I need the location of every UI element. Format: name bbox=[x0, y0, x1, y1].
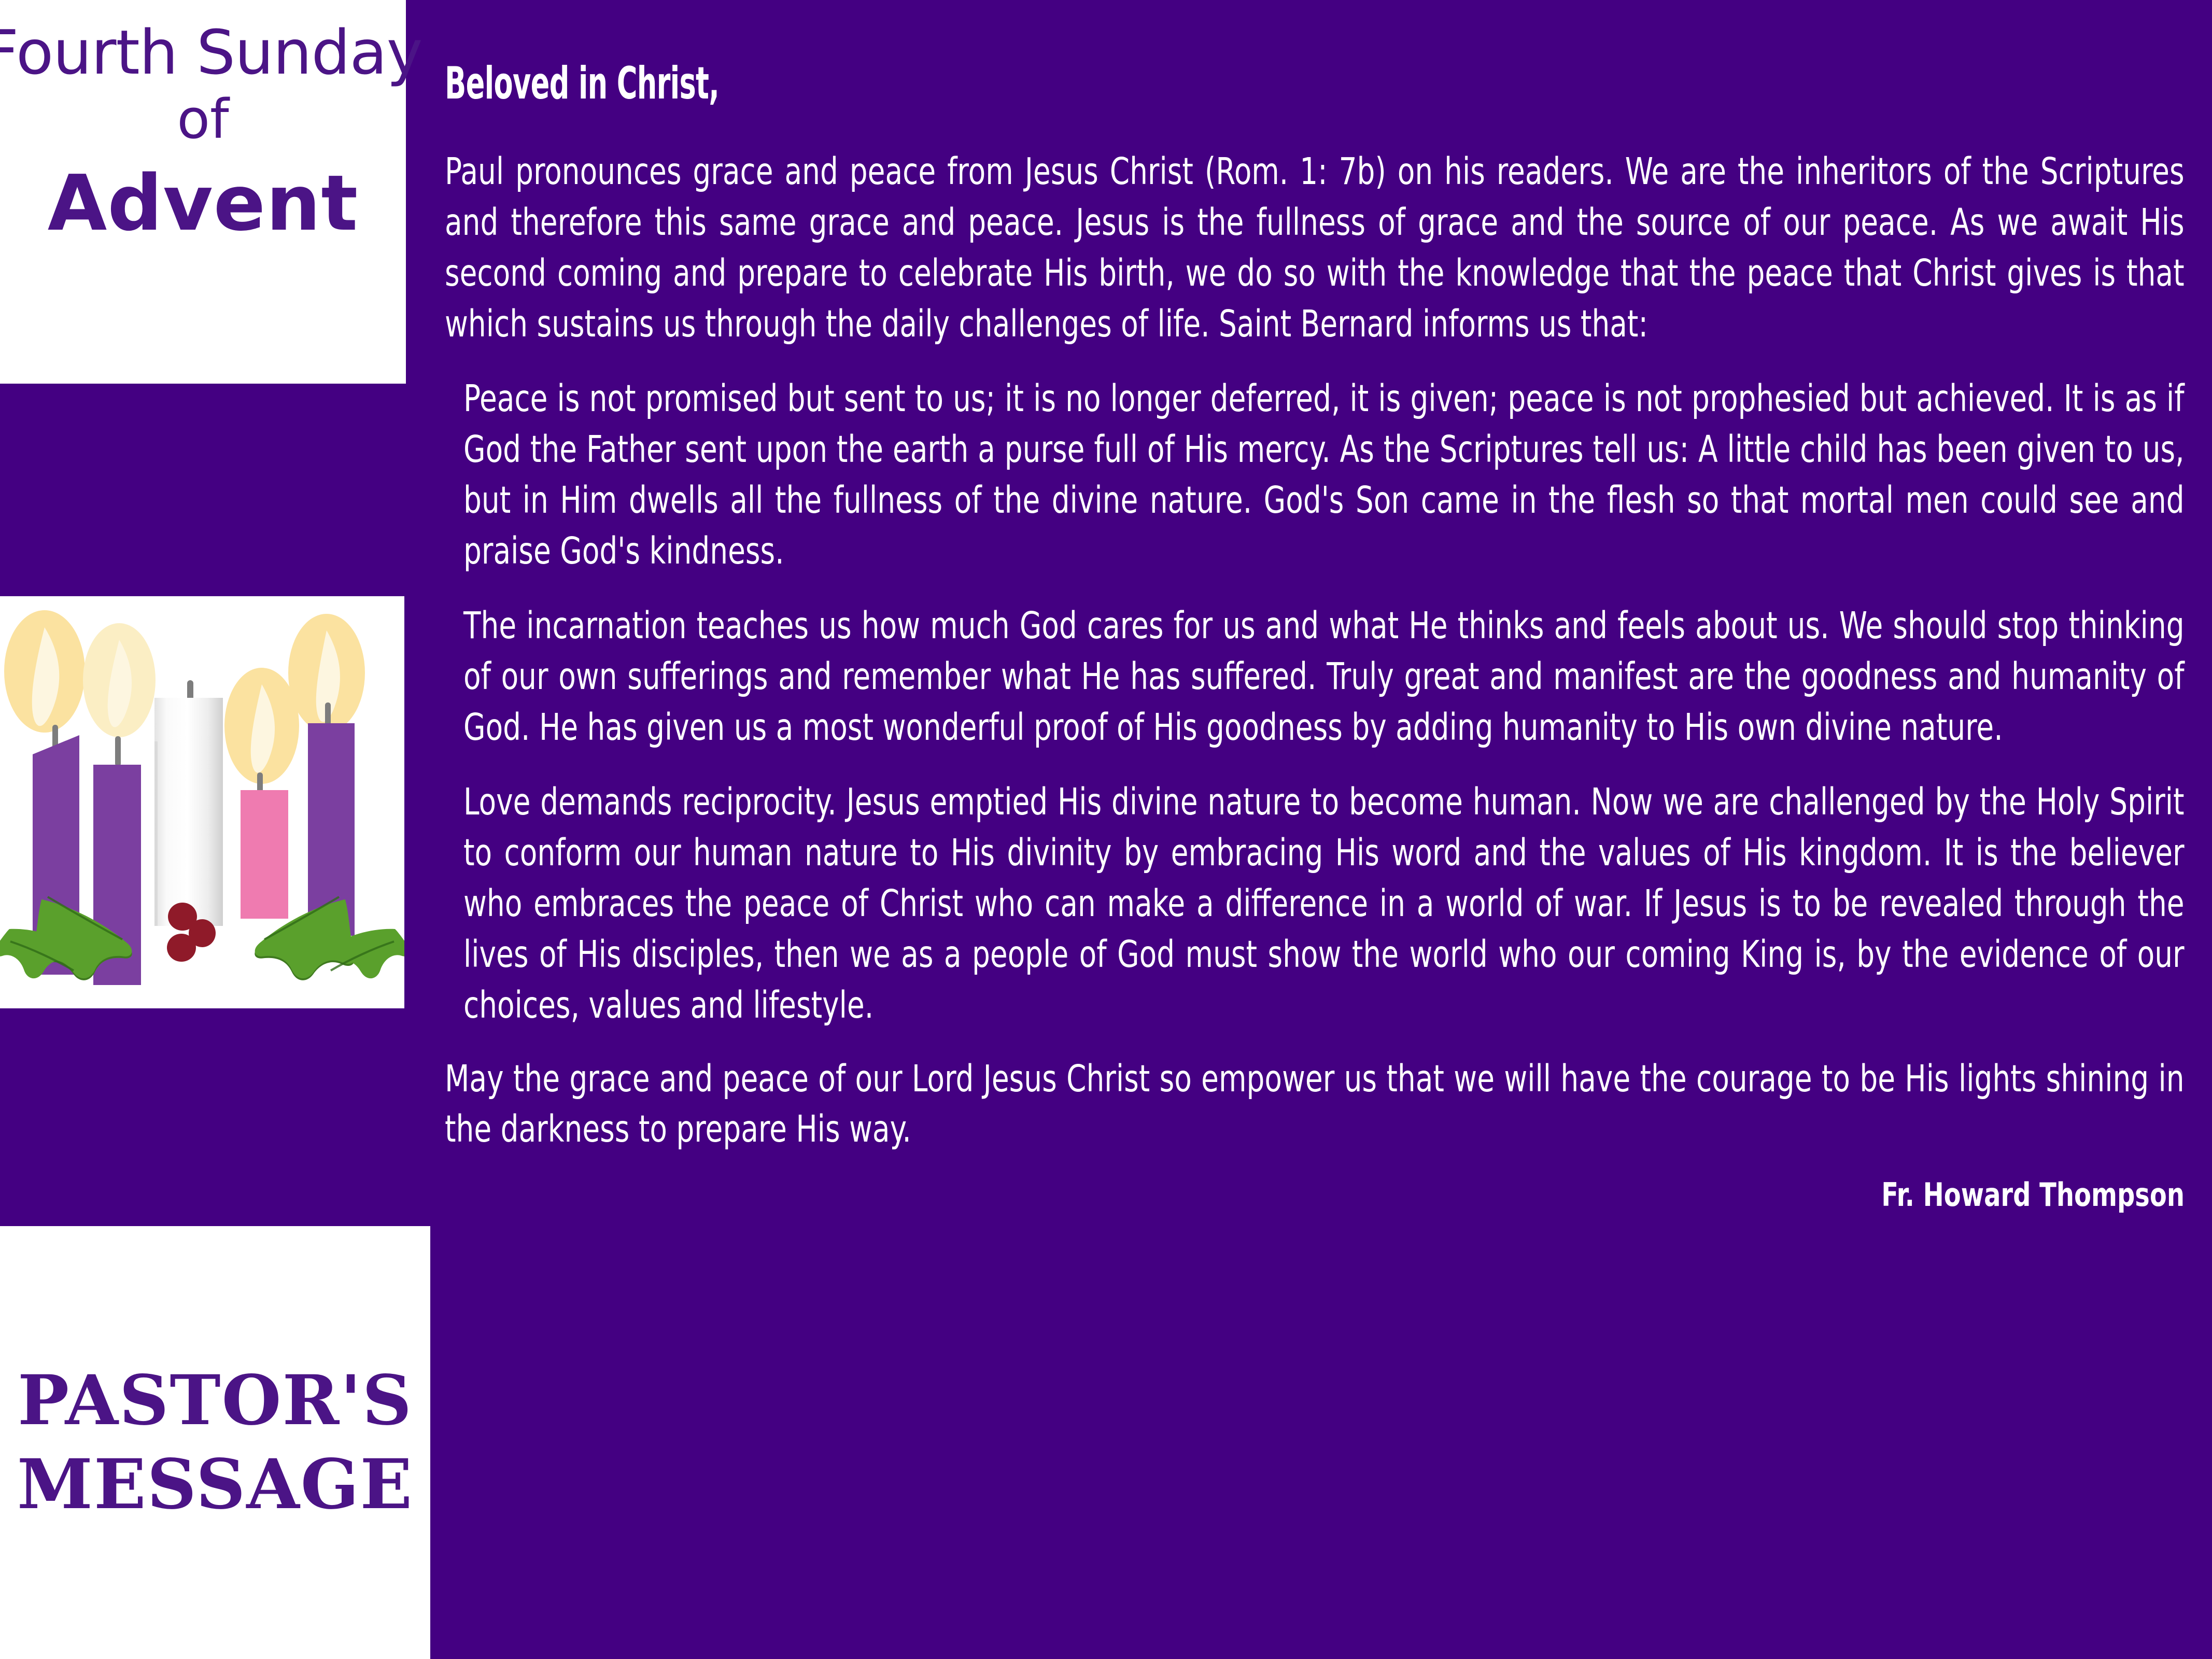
pastors-label-line-1: PASTOR'S bbox=[18, 1359, 413, 1442]
title-panel: Fourth Sunday of Advent bbox=[0, 0, 406, 384]
paragraph-intro: Paul pronounces grace and peace from Jes… bbox=[445, 146, 2185, 349]
quote-paragraph-3: Love demands reciprocity. Jesus emptied … bbox=[463, 777, 2185, 1031]
title-line-advent: Advent bbox=[48, 156, 358, 251]
advent-wreath-icon bbox=[0, 596, 404, 1008]
salutation: Beloved in Christ, bbox=[445, 61, 1662, 106]
signature-line: Fr. Howard Thompson bbox=[445, 1177, 2188, 1213]
advent-pastors-message-page: Fourth Sunday of Advent bbox=[0, 0, 2212, 1659]
pastors-message-label-panel: PASTOR'S MESSAGE bbox=[0, 1226, 430, 1659]
pastors-label-line-2: MESSAGE bbox=[17, 1443, 413, 1526]
paragraph-closing: May the grace and peace of our Lord Jesu… bbox=[445, 1053, 2185, 1155]
title-line-of: of bbox=[177, 83, 229, 156]
pastors-message-body: Beloved in Christ, Paul pronounces grace… bbox=[445, 0, 2184, 1659]
advent-wreath-panel bbox=[0, 596, 404, 1008]
quote-paragraph-2: The incarnation teaches us how much God … bbox=[463, 600, 2185, 753]
title-line-fourth-sunday: Fourth Sunday bbox=[0, 22, 422, 83]
quote-paragraph-1: Peace is not promised but sent to us; it… bbox=[463, 373, 2185, 577]
holly-berry bbox=[167, 934, 196, 962]
saint-bernard-quote-block: Peace is not promised but sent to us; it… bbox=[463, 373, 2184, 1031]
